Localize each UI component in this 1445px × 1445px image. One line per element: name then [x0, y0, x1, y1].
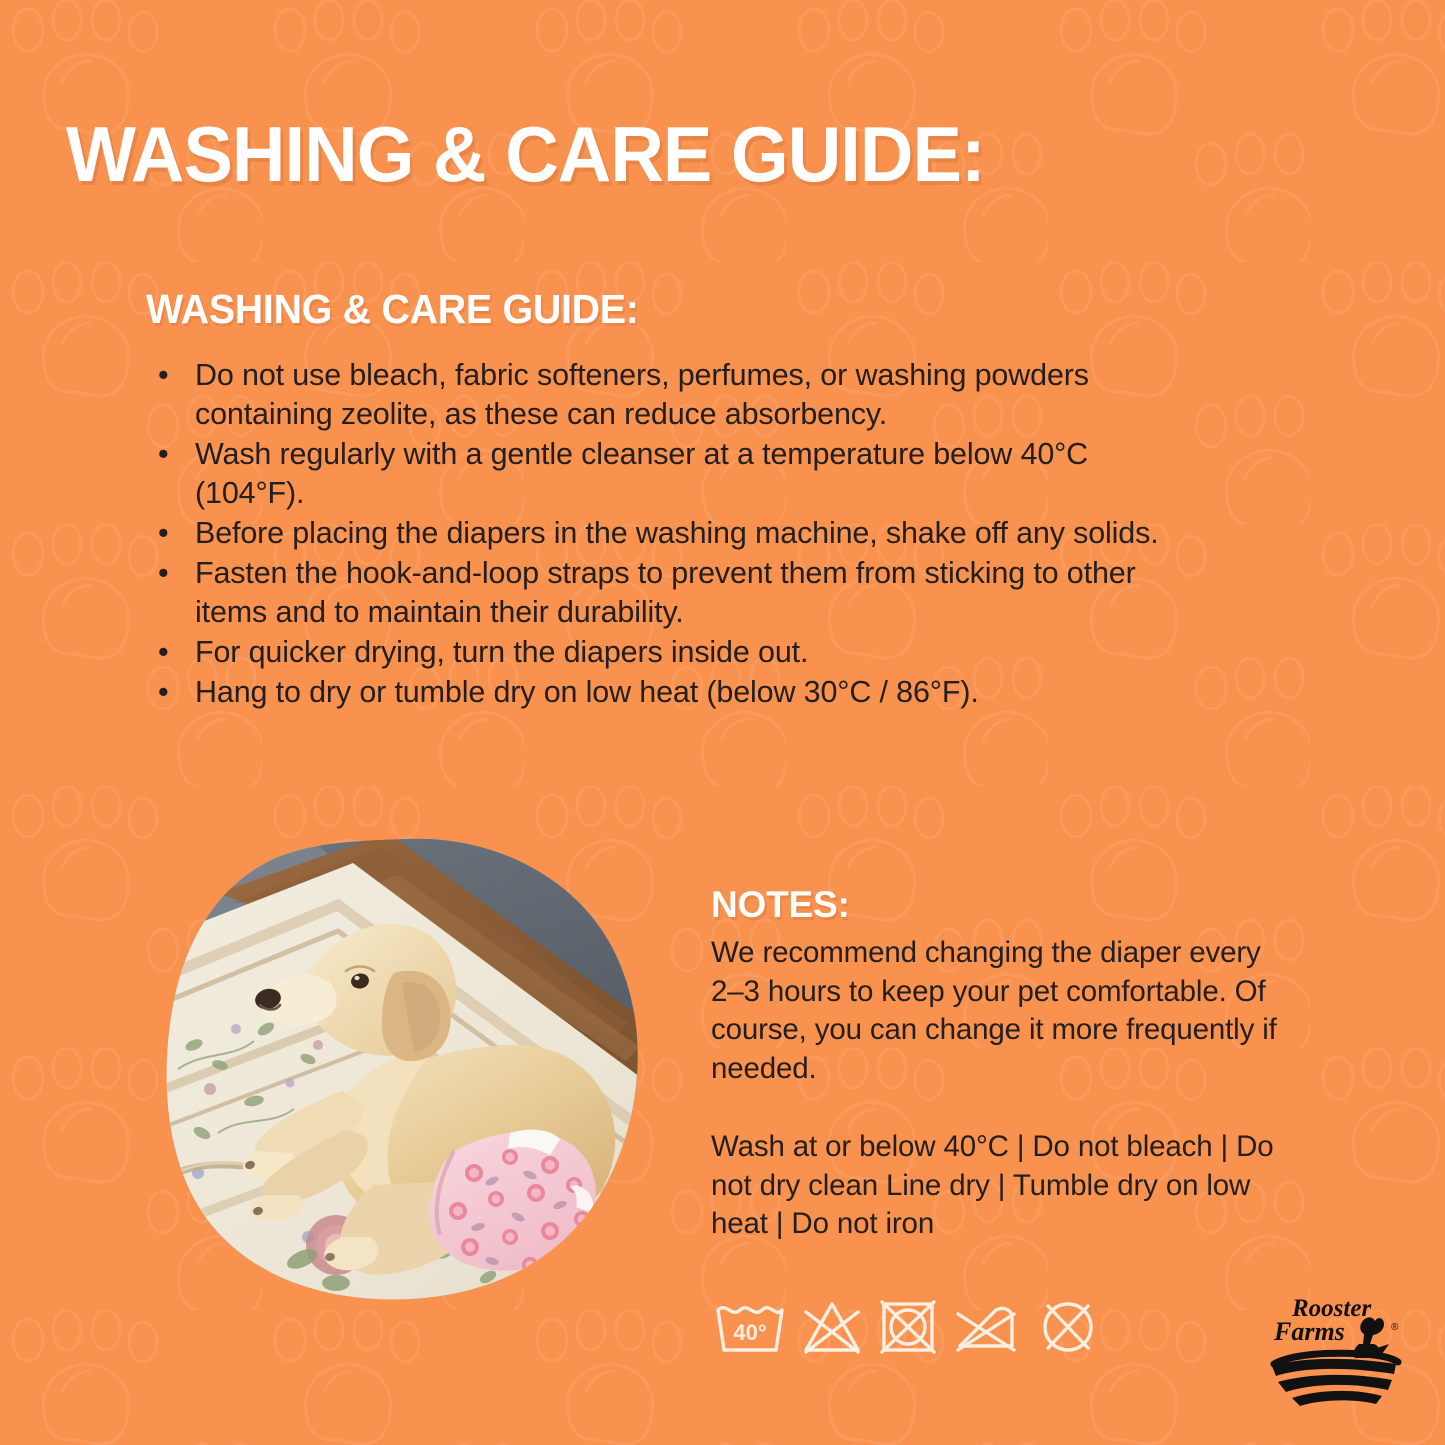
list-item: • Do not use bleach, fabric softeners, p… [150, 356, 1160, 434]
wash-40-icon: 40° [712, 1296, 788, 1358]
do-not-tumble-dry-icon [876, 1296, 942, 1358]
bullet-marker-icon: • [158, 356, 169, 395]
list-item-text: For quicker drying, turn the diapers ins… [195, 635, 808, 669]
wash-temperature-label: 40° [733, 1320, 766, 1345]
list-item-text: Do not use bleach, fabric softeners, per… [195, 358, 1089, 431]
washing-care-bullet-list: • Do not use bleach, fabric softeners, p… [150, 356, 1160, 713]
list-item-text: Hang to dry or tumble dry on low heat (b… [195, 675, 979, 709]
list-item-text: Fasten the hook-and-loop straps to preve… [195, 556, 1136, 629]
product-photo [158, 833, 648, 1303]
bullet-marker-icon: • [158, 633, 169, 672]
do-not-iron-icon [952, 1296, 1026, 1358]
page-title: WASHING & CARE GUIDE: [66, 112, 1111, 196]
field-stripes-icon [1272, 1359, 1396, 1406]
do-not-bleach-icon [798, 1296, 866, 1358]
list-item-text: Wash regularly with a gentle cleanser at… [195, 437, 1088, 510]
notes-paragraph-recommendation: We recommend changing the diaper every 2… [711, 934, 1291, 1088]
brand-trademark: ® [1391, 1322, 1399, 1333]
list-item-text: Before placing the diapers in the washin… [195, 516, 1159, 550]
brand-logo: Rooster Farms ® [1258, 1282, 1408, 1410]
bullet-marker-icon: • [158, 514, 169, 553]
bullet-marker-icon: • [158, 435, 169, 474]
notes-paragraph-care-summary: Wash at or below 40°C | Do not bleach | … [711, 1128, 1291, 1244]
notes-heading: NOTES: [711, 884, 850, 926]
washing-care-heading: WASHING & CARE GUIDE: [146, 286, 639, 333]
care-guide-page: WASHING & CARE GUIDE: WASHING & CARE GUI… [0, 0, 1445, 1445]
brand-name-line-2: Farms [1273, 1317, 1345, 1346]
list-item: • Before placing the diapers in the wash… [150, 514, 1160, 553]
bullet-marker-icon: • [158, 673, 169, 712]
do-not-dry-clean-icon [1036, 1296, 1100, 1358]
list-item: • Hang to dry or tumble dry on low heat … [150, 673, 1160, 712]
care-symbol-row: 40° [712, 1296, 1100, 1358]
list-item: • Fasten the hook-and-loop straps to pre… [150, 554, 1160, 632]
bullet-marker-icon: • [158, 554, 169, 593]
list-item: • For quicker drying, turn the diapers i… [150, 633, 1160, 672]
list-item: • Wash regularly with a gentle cleanser … [150, 435, 1160, 513]
